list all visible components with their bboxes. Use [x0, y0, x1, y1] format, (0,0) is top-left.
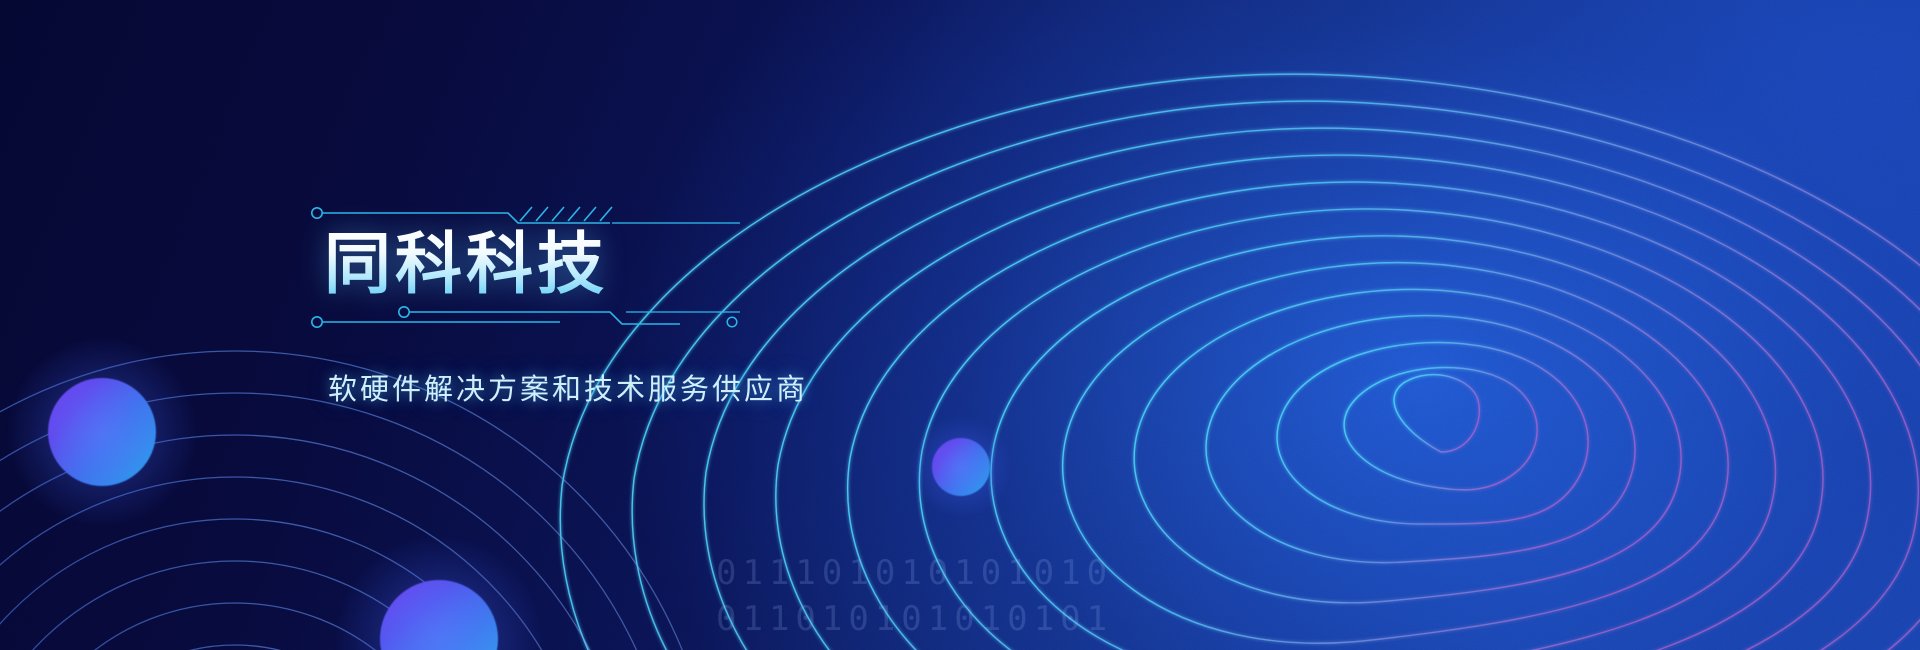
- binary-line-2: 011010101010101: [716, 596, 1113, 642]
- hero-banner: 011101010101010 011010101010101: [0, 0, 1920, 650]
- binary-line-1: 011101010101010: [716, 550, 1113, 596]
- glow-orb-medium: [380, 580, 498, 650]
- node-dot-bottom-right: [727, 317, 737, 327]
- hatch-marks-top: [520, 207, 612, 221]
- brand-title: 同科科技: [324, 229, 870, 300]
- glow-orb-large: [48, 378, 156, 486]
- tech-rule-bottom: [310, 306, 870, 324]
- node-dot-top-left: [312, 208, 322, 218]
- brand-subtitle: 软硬件解决方案和技术服务供应商: [328, 366, 870, 408]
- node-dot-bottom-left: [312, 317, 322, 327]
- tech-rule-top: [310, 205, 870, 223]
- glow-orb-small: [932, 438, 990, 496]
- binary-watermark: 011101010101010 011010101010101: [716, 550, 1113, 642]
- hero-text-block: 同科科技 软硬件解决方案和技术服务供应商: [310, 205, 870, 408]
- node-dot-bottom-mid: [399, 307, 409, 317]
